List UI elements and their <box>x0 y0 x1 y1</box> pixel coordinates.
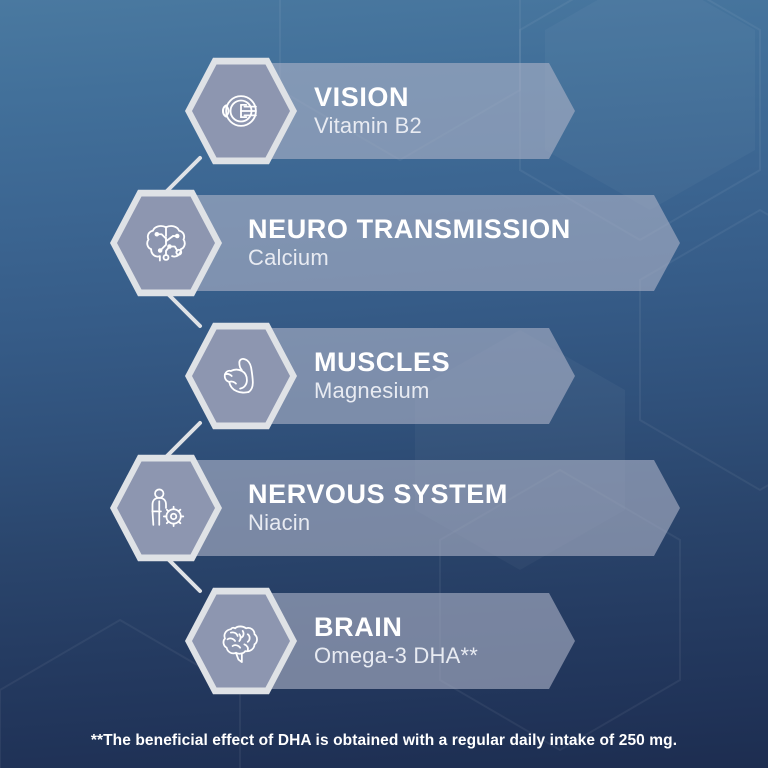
brain-circuit-icon <box>138 215 194 271</box>
info-row[interactable]: VISION Vitamin B2 <box>0 55 768 167</box>
hex-badge[interactable] <box>185 55 297 167</box>
footnote-text: **The beneficial effect of DHA is obtain… <box>0 732 768 750</box>
person-gear-icon <box>139 481 193 535</box>
hex-badge[interactable] <box>110 452 222 564</box>
info-banner[interactable]: NEURO TRANSMISSION Calcium <box>166 195 680 291</box>
info-row[interactable]: NEURO TRANSMISSION Calcium <box>0 187 768 299</box>
infographic-canvas: VISION Vitamin B2 <box>0 0 768 768</box>
hex-badge[interactable] <box>185 320 297 432</box>
row-title: MUSCLES <box>314 348 575 376</box>
hex-badge[interactable] <box>110 187 222 299</box>
row-title: VISION <box>314 83 575 111</box>
row-subtitle: Magnesium <box>314 379 575 404</box>
row-title: NERVOUS SYSTEM <box>248 480 680 508</box>
eye-icon <box>213 83 269 139</box>
row-subtitle: Vitamin B2 <box>314 114 575 139</box>
row-subtitle: Niacin <box>248 511 680 536</box>
row-subtitle: Omega-3 DHA** <box>314 644 575 669</box>
info-row[interactable]: MUSCLES Magnesium <box>0 320 768 432</box>
hex-badge[interactable] <box>185 585 297 697</box>
row-title: BRAIN <box>314 613 575 641</box>
brain-anatomy-icon <box>214 614 268 668</box>
info-row[interactable]: NERVOUS SYSTEM Niacin <box>0 452 768 564</box>
row-subtitle: Calcium <box>248 246 680 271</box>
flexed-biceps-icon <box>214 349 268 403</box>
row-title: NEURO TRANSMISSION <box>248 215 680 243</box>
info-banner[interactable]: NERVOUS SYSTEM Niacin <box>166 460 680 556</box>
info-row[interactable]: BRAIN Omega-3 DHA** <box>0 585 768 697</box>
